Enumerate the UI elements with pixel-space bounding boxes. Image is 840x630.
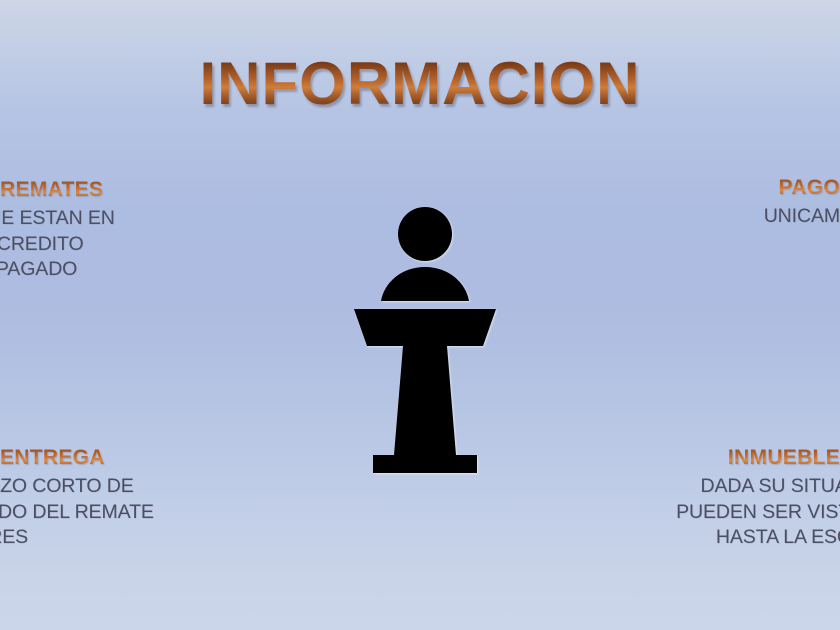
podium-speaker-icon xyxy=(345,205,505,483)
presentation-slide: INFORMACION REMATES IEDADES QUE ESTAN EN… xyxy=(0,0,840,630)
block-line: HASTA LA ESCRITU xyxy=(676,525,840,551)
text-block-inmuebles: INMUEBLE DADA SU SITUACION PUEDEN SER VI… xyxy=(676,446,840,551)
block-heading-inmuebles: INMUEBLE xyxy=(676,446,840,470)
block-line: E UN PLAZO CORTO DE xyxy=(0,474,154,500)
block-line: DADA SU SITUACION xyxy=(676,474,840,500)
page-title: INFORMACION xyxy=(0,52,840,115)
block-line: TIA POR UN CREDITO xyxy=(0,232,115,258)
block-line: UNICAMENTE CO xyxy=(764,204,840,230)
block-heading-entrega: ENTREGA xyxy=(0,446,154,470)
block-heading-pago: PAGO xyxy=(764,176,840,200)
text-block-remates: REMATES IEDADES QUE ESTAN EN TIA POR UN … xyxy=(0,178,115,283)
block-line: ECARIO NO PAGADO xyxy=(0,257,115,283)
text-block-pago: PAGO UNICAMENTE CO xyxy=(764,176,840,230)
block-heading-remates: REMATES xyxy=(0,178,115,202)
block-line: PENDIENDO DEL REMATE xyxy=(0,500,154,526)
text-block-entrega: ENTREGA E UN PLAZO CORTO DE PENDIENDO DE… xyxy=(0,446,154,551)
block-line: IEDADES QUE ESTAN EN xyxy=(0,206,115,232)
block-line: PUEDEN SER VISTOS P xyxy=(676,500,840,526)
block-line: DE INTERES xyxy=(0,525,154,551)
